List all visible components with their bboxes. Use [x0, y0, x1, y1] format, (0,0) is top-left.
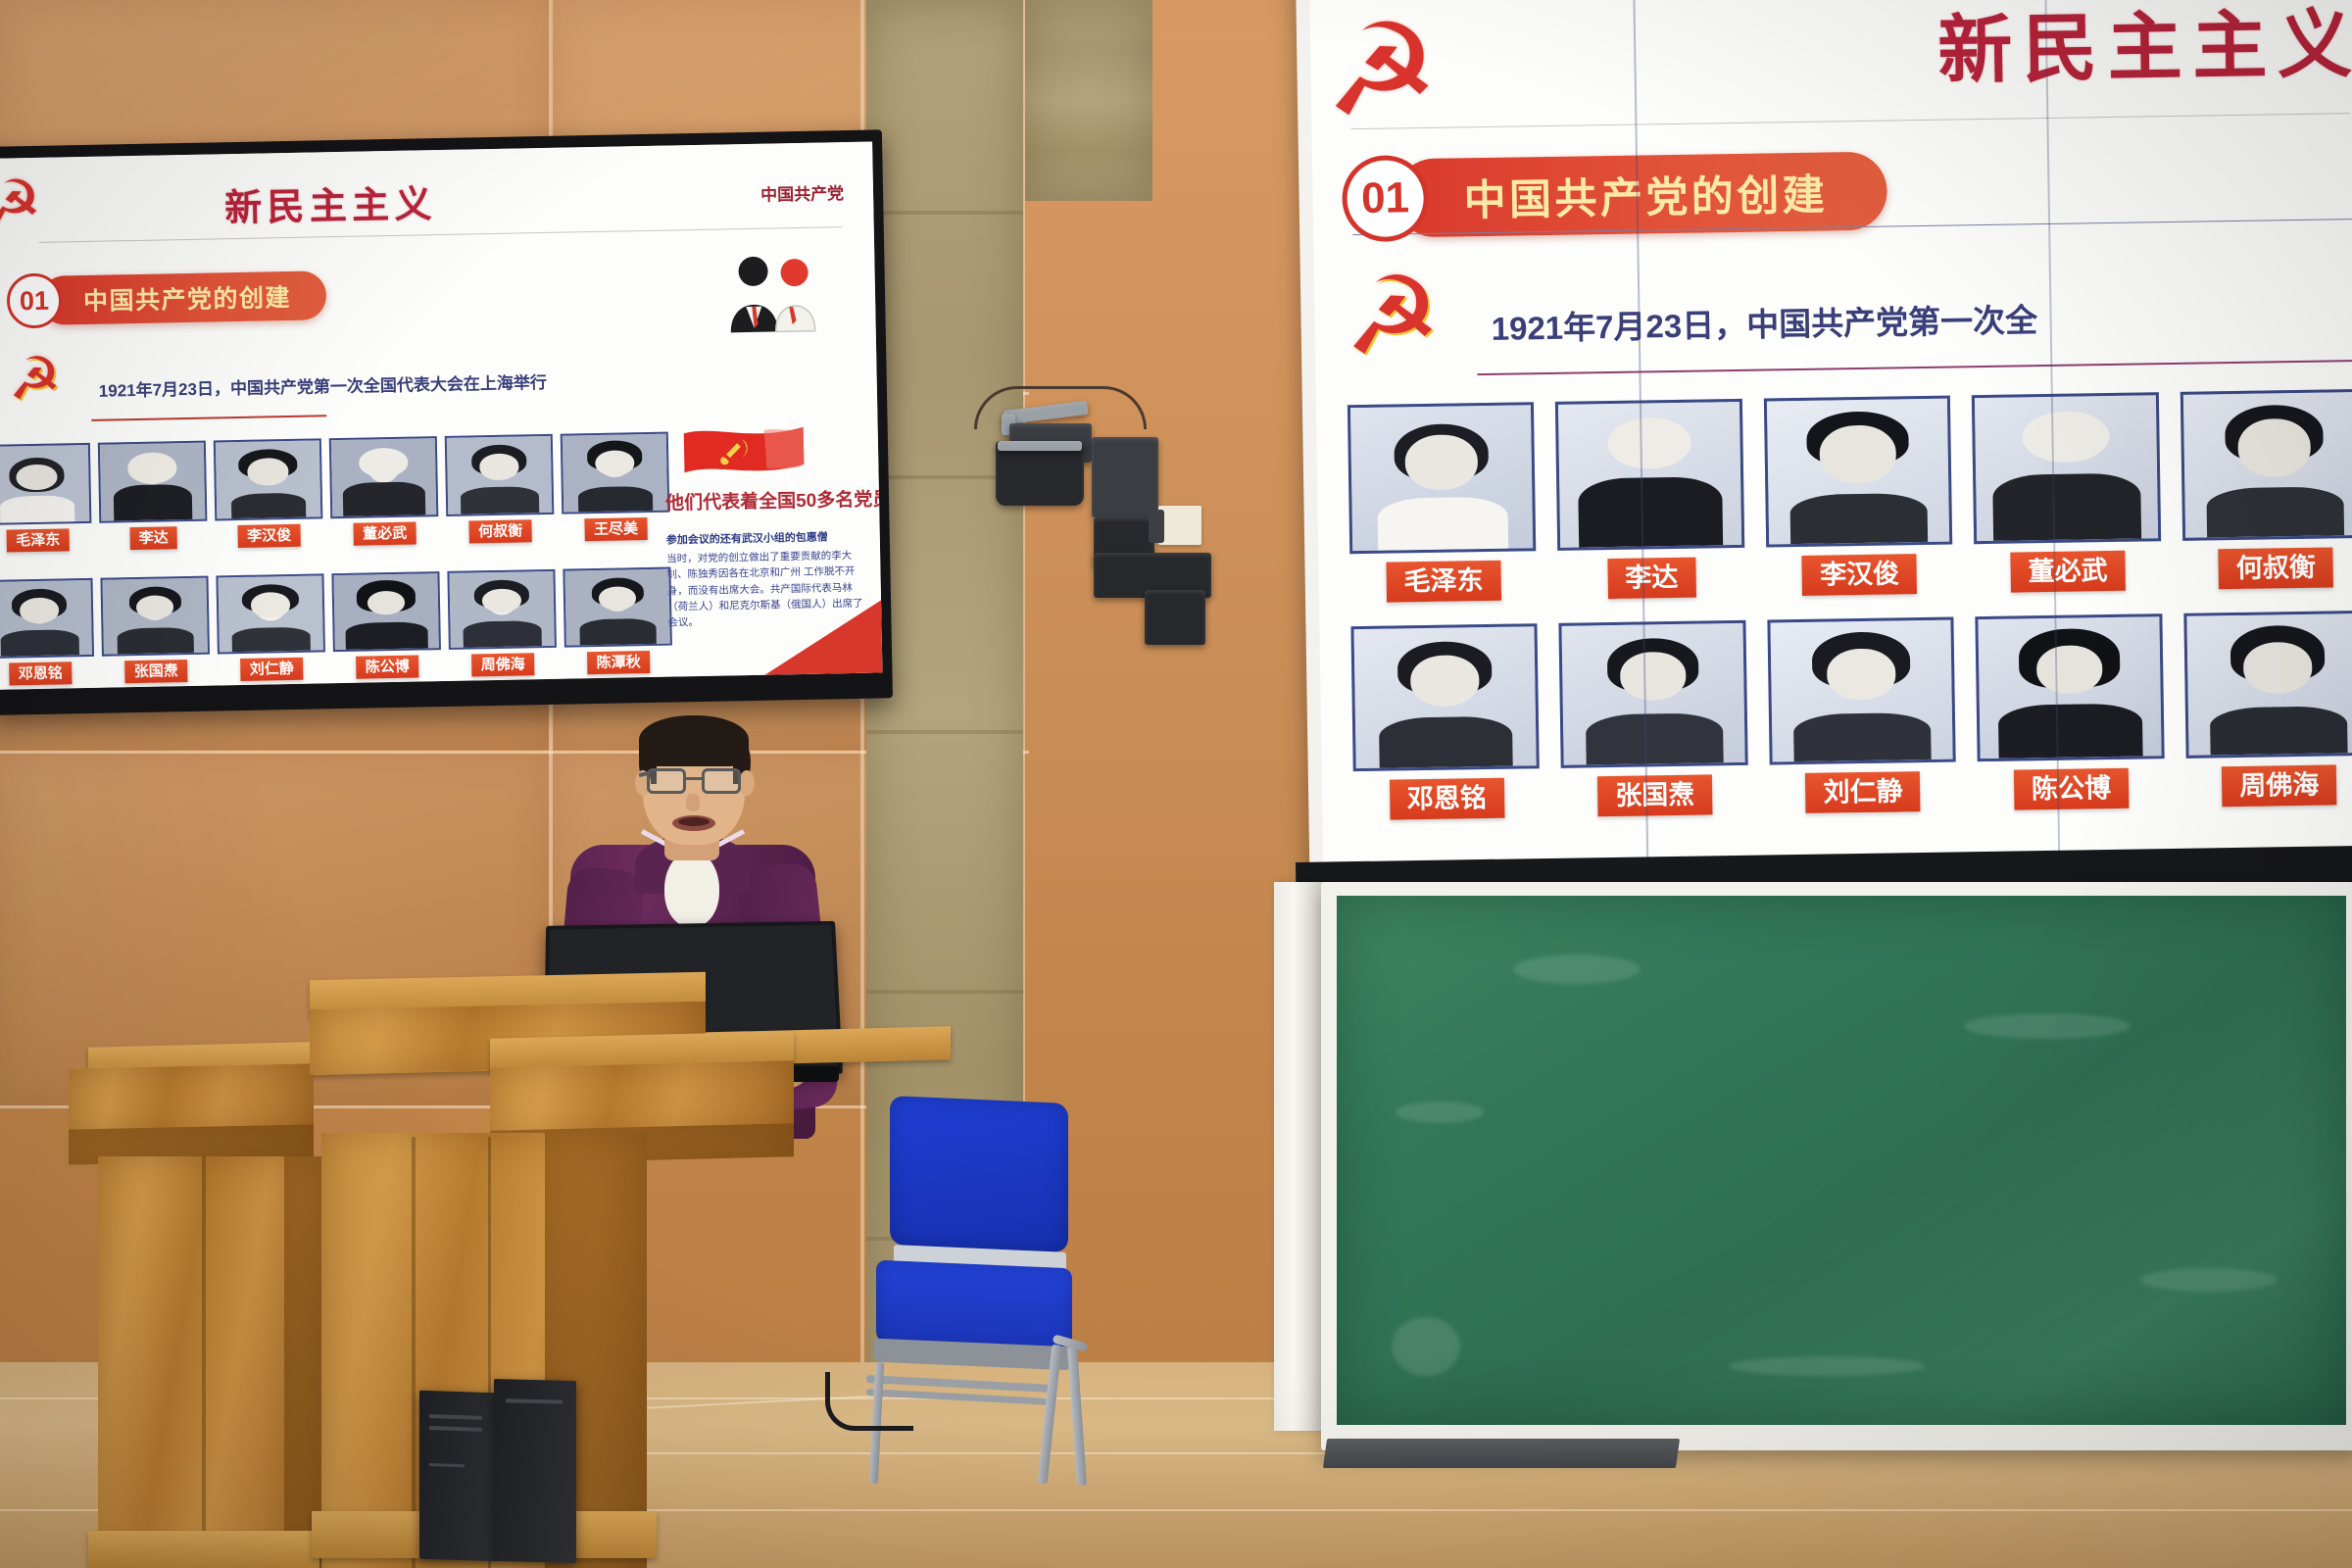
delegate-name: 张国焘: [125, 660, 187, 683]
party-flag-icon: [680, 421, 808, 484]
left-slide: ☭ 新民主主义 中国共产党 01 中国共产党的创建 ☭ 1921年7月23日，中…: [0, 142, 882, 690]
delegate-cell[interactable]: 张国焘: [100, 576, 210, 684]
wall-mounted-projector-camera[interactable]: [966, 380, 1231, 645]
green-chalkboard[interactable]: [1321, 882, 2352, 1450]
delegate-name: 李汉俊: [238, 524, 300, 548]
delegate-name: 毛泽东: [1386, 561, 1501, 603]
delegate-name: 董必武: [354, 522, 416, 546]
delegate-cell[interactable]: 董必武: [329, 436, 439, 546]
delegate-cell[interactable]: 周佛海: [2183, 611, 2352, 808]
computer-tower[interactable]: [494, 1379, 576, 1563]
delegate-name: 邓恩铭: [1390, 778, 1505, 820]
delegate-grid-row2: 邓恩铭 张国焘: [1350, 611, 2352, 820]
delegate-cell[interactable]: 周佛海: [447, 569, 557, 677]
delegate-cell[interactable]: 陈公博: [331, 571, 441, 679]
wall-outlet: [1158, 506, 1201, 545]
party-emblem-icon: ☭: [1344, 263, 1442, 372]
corner-decoration: [763, 600, 882, 674]
delegate-grid-row1: 毛泽东 李达: [1347, 389, 2352, 603]
delegate-name: 周佛海: [2222, 764, 2337, 807]
lecture-hall-scene: ☭ 新民主主义 中国共产党 01 中国共产党的创建 ☭ 1921年7月23日，中…: [0, 0, 2352, 1568]
delegate-cell[interactable]: 李汉俊: [214, 438, 323, 548]
delegate-name: 陈潭秋: [587, 651, 649, 674]
delegate-name: 刘仁静: [241, 658, 303, 681]
delegate-cell[interactable]: 李达: [98, 441, 208, 551]
delegate-cell[interactable]: 刘仁静: [216, 573, 325, 681]
delegate-grid-row2: 邓恩铭 张国焘 刘仁静: [0, 567, 672, 686]
delegate-name: 毛泽东: [7, 528, 69, 552]
floor-cable: [825, 1372, 913, 1431]
party-emblem-icon: ☭: [1324, 6, 1441, 135]
computer-tower[interactable]: [419, 1391, 496, 1562]
party-emblem-icon: ☭: [0, 171, 42, 235]
party-emblem-icon: ☭: [8, 349, 62, 409]
delegate-cell[interactable]: 张国焘: [1559, 620, 1748, 817]
delegate-name: 董必武: [2010, 551, 2126, 593]
delegate-cell[interactable]: 何叔衡: [2180, 389, 2352, 590]
people-icon: [721, 251, 821, 335]
delegate-cell[interactable]: 毛泽东: [1347, 402, 1538, 603]
delegate-cell[interactable]: 陈公博: [1976, 613, 2165, 810]
delegate-name: 邓恩铭: [10, 661, 72, 685]
delegate-cell[interactable]: 李汉俊: [1764, 396, 1954, 597]
delegate-cell[interactable]: 何叔衡: [445, 434, 555, 544]
delegate-name: 李达: [1607, 558, 1696, 599]
date-line: 1921年7月23日，中国共产党第一次全国代表大会在上海举行: [99, 368, 548, 402]
brand-label: 中国共产党: [760, 179, 844, 206]
delegate-cell[interactable]: 邓恩铭: [1350, 623, 1540, 820]
right-projection-frame[interactable]: ☭ 新民主主义 01 中国共产党的创建 ☭ 1921年7月23日，中国共产党第一…: [1296, 0, 2352, 886]
section-chip: 01 中国共产党的创建: [6, 268, 326, 328]
delegate-name: 何叔衡: [469, 519, 531, 543]
note-heading: 参加会议的还有武汉小组的包惠僧: [666, 528, 862, 548]
delegate-cell[interactable]: 邓恩铭: [0, 578, 95, 686]
delegate-name: 何叔衡: [2219, 547, 2334, 589]
delegate-cell[interactable]: 刘仁静: [1767, 617, 1956, 814]
delegate-name: 李达: [129, 526, 176, 550]
chalk-tray: [1323, 1439, 1680, 1468]
delegate-name: 陈公博: [2014, 768, 2130, 810]
stone-column: [1025, 0, 1152, 201]
delegate-name: 陈公博: [357, 656, 418, 679]
delegate-name: 周佛海: [472, 653, 534, 676]
delegate-cell[interactable]: 陈潭秋: [563, 567, 672, 675]
delegate-name: 张国焘: [1597, 774, 1713, 816]
delegate-cell[interactable]: 李达: [1555, 399, 1745, 600]
section-title: 中国共产党的创建: [1395, 152, 1887, 238]
flag-caption: 他们代表着全国50多名党员: [665, 484, 883, 514]
delegate-grid-row1: 毛泽东 李达 李汉俊: [0, 432, 670, 553]
left-display-bezel[interactable]: ☭ 新民主主义 中国共产党 01 中国共产党的创建 ☭ 1921年7月23日，中…: [0, 129, 893, 715]
delegate-name: 李汉俊: [1802, 554, 1918, 596]
delegate-cell[interactable]: 毛泽东: [0, 443, 92, 553]
delegate-name: 王尽美: [585, 517, 647, 541]
delegate-name: 刘仁静: [1805, 771, 1921, 813]
date-line: 1921年7月23日，中国共产党第一次全: [1491, 294, 2037, 350]
slide-title: 新民主主义: [1936, 0, 2352, 98]
undershirt: [664, 851, 719, 927]
right-slide: ☭ 新民主主义 01 中国共产党的创建 ☭ 1921年7月23日，中国共产党第一…: [1309, 0, 2352, 864]
delegate-cell[interactable]: 王尽美: [561, 432, 670, 542]
section-title: 中国共产党的创建: [40, 270, 327, 325]
slide-title: 新民主主义: [224, 173, 438, 231]
delegate-cell[interactable]: 董必武: [1972, 392, 2162, 593]
